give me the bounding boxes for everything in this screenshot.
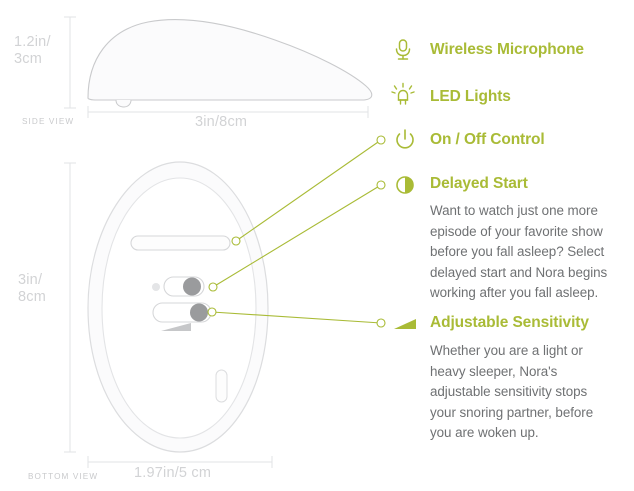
pie-clock-icon: [392, 172, 418, 198]
microphone-icon: [390, 37, 416, 63]
feature-body-delayed-start: Want to watch just one more episode of y…: [430, 201, 612, 304]
side-view-width-label: 3in/8cm: [195, 114, 247, 131]
feature-title-on-off-control: On / Off Control: [430, 131, 545, 149]
feature-body-adjustable-sensitivity: Whether you are a light or heavy sleeper…: [430, 341, 612, 444]
device-bottom-view: [88, 162, 268, 452]
feature-title-adjustable-sensitivity: Adjustable Sensitivity: [430, 314, 589, 332]
feature-title-led-lights: LED Lights: [430, 88, 511, 106]
sensitivity-toggle-switch[interactable]: [153, 303, 211, 322]
feature-title-wireless-microphone: Wireless Microphone: [430, 41, 584, 59]
feature-title-delayed-start: Delayed Start: [430, 175, 528, 193]
side-view-height-label: 1.2in/ 3cm: [14, 34, 51, 68]
device-side-view: [88, 20, 372, 107]
bottom-view-width-label: 1.97in/5 cm: [134, 465, 211, 482]
side-port-tab: [216, 370, 227, 402]
wedge-icon: [392, 311, 418, 337]
product-diagram-page: 1.2in/ 3cm 3in/8cm 3in/ 8cm 1.97in/5 cm …: [0, 0, 634, 491]
power-icon: [392, 127, 418, 153]
bottom-view-caption: BOTTOM VIEW: [28, 472, 98, 481]
led-bulb-icon: [390, 82, 416, 108]
side-view-caption: SIDE VIEW: [22, 117, 74, 126]
bottom-view-height-label: 3in/ 8cm: [18, 272, 46, 306]
speaker-slot: [131, 236, 230, 250]
